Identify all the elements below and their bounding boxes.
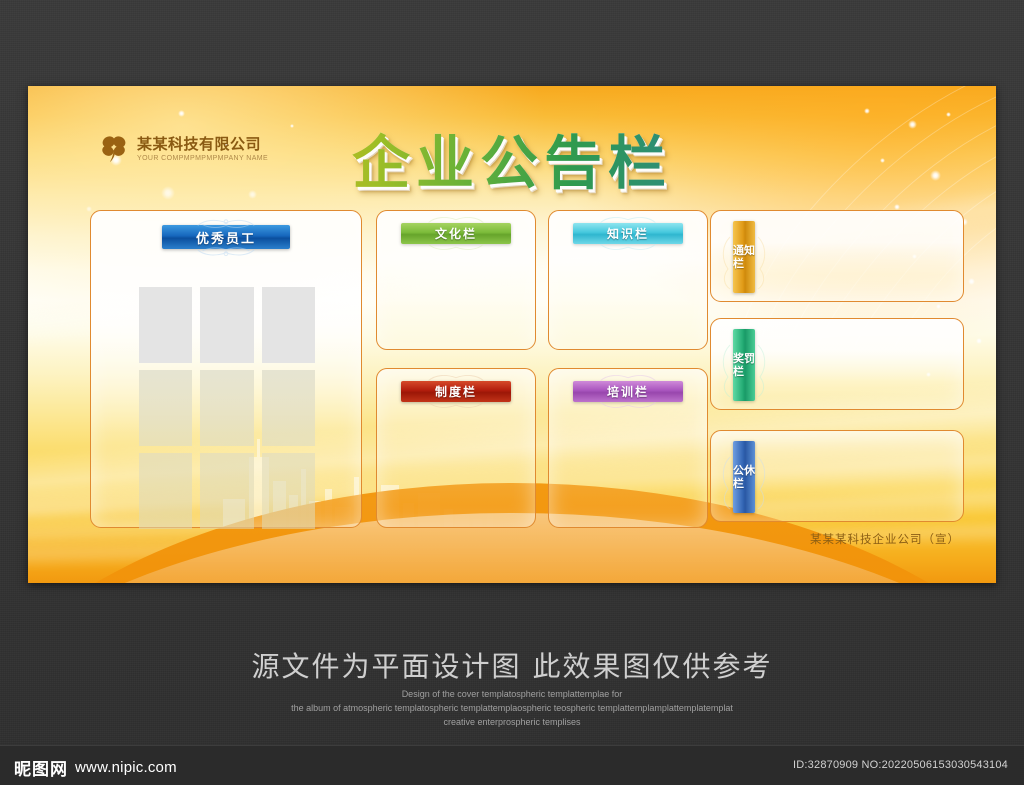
section-label-reward-text: 奖罚栏 [733,352,755,379]
site-watermark: 昵图网 www.nipic.com [14,755,177,780]
panel-knowledge[interactable]: 知识栏 [548,210,708,350]
caption-chinese: 源文件为平面设计图 此效果图仅供参考 [0,645,1024,685]
caption-english-line3: creative enterprospheric templises [0,716,1024,730]
panel-reward[interactable]: 奖罚栏 [710,318,964,410]
poster-artboard: 某某科技有限公司 YOUR COMPMPMPMPMPANY NAME 企业公告栏… [28,86,996,583]
photo-placeholder[interactable] [200,370,253,446]
section-label-culture: 文化栏 [401,223,511,244]
section-label-holiday: 公休栏 [733,441,755,513]
photo-placeholder[interactable] [262,287,315,363]
section-label-employee-text: 优秀员工 [196,228,256,247]
caption-english: Design of the cover templatospheric temp… [0,688,1024,730]
photo-placeholder[interactable] [139,287,192,363]
panel-rules[interactable]: 制度栏 [376,368,536,528]
photo-placeholder[interactable] [200,453,253,529]
panel-notice[interactable]: 通知栏 [710,210,964,302]
photo-placeholder[interactable] [200,287,253,363]
section-label-training-text: 培训栏 [607,383,649,400]
section-label-culture-text: 文化栏 [435,225,477,242]
section-label-rules-text: 制度栏 [435,383,477,400]
section-label-holiday-text: 公休栏 [733,464,755,491]
panel-holiday[interactable]: 公休栏 [710,430,964,522]
caption-english-line2: the album of atmospheric templatospheric… [0,702,1024,716]
page-background: 某某科技有限公司 YOUR COMPMPMPMPMPANY NAME 企业公告栏… [0,0,1024,785]
site-name-cn: 昵图网 [14,755,68,780]
site-url: www.nipic.com [75,759,177,776]
photo-placeholder[interactable] [262,453,315,529]
photo-placeholder[interactable] [139,453,192,529]
photo-placeholder[interactable] [139,370,192,446]
caption-english-line1: Design of the cover templatospheric temp… [0,688,1024,702]
employee-photo-grid[interactable] [139,287,315,529]
section-label-reward: 奖罚栏 [733,329,755,401]
section-label-training: 培训栏 [573,381,683,402]
section-label-knowledge: 知识栏 [573,223,683,244]
page-title: 企业公告栏 [28,116,996,200]
photo-placeholder[interactable] [262,370,315,446]
footer-bar: 昵图网 www.nipic.com ID:32870909 NO:2022050… [0,745,1024,785]
poster-signature: 某某某科技企业公司（宣） [810,531,960,547]
panel-culture[interactable]: 文化栏 [376,210,536,350]
panel-training[interactable]: 培训栏 [548,368,708,528]
panel-employee[interactable]: 优秀员工 [90,210,362,528]
section-label-notice-text: 通知栏 [733,244,755,271]
section-label-notice: 通知栏 [733,221,755,293]
section-label-knowledge-text: 知识栏 [607,225,649,242]
asset-id-text: ID:32870909 NO:20220506153030543104 [793,759,1008,771]
section-label-employee: 优秀员工 [162,225,290,249]
section-label-rules: 制度栏 [401,381,511,402]
